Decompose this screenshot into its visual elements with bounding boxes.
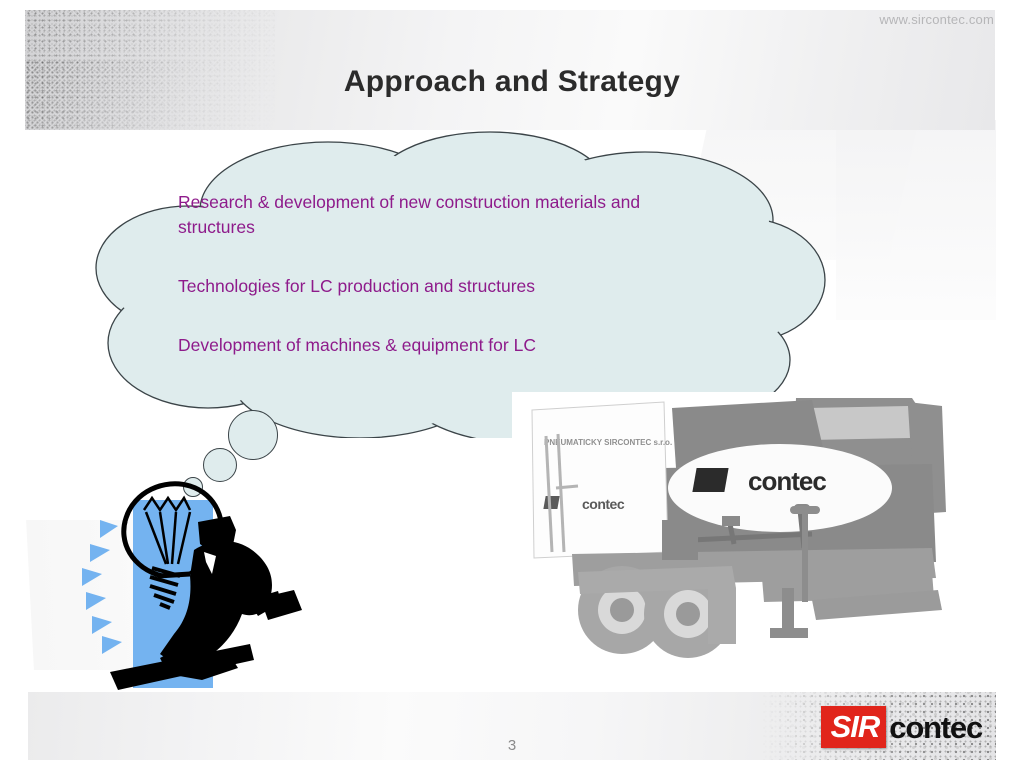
sircontec-logo: SIR contec: [821, 706, 982, 748]
slide: www.sircontec.com Approach and Strategy: [0, 0, 1024, 768]
site-url: www.sircontec.com: [879, 12, 994, 27]
light-rays: [82, 520, 122, 654]
background-watermark-shape: [836, 120, 996, 320]
cloud-bullet-list: Research & development of new constructi…: [178, 190, 718, 358]
page-title: Approach and Strategy: [0, 65, 1024, 99]
svg-text:contec: contec: [748, 466, 826, 496]
businessman-lightbulb-clipart: [40, 458, 330, 693]
cloud-bullet-3: Development of machines & equipment for …: [178, 333, 718, 358]
thought-bubble-large: [228, 410, 278, 460]
svg-text:contec: contec: [582, 496, 625, 512]
sircontec-machine-photo: contec PNEUMATICKY SIRCONTEC s.r.o. cont…: [512, 392, 952, 664]
cloud-bullet-1: Research & development of new constructi…: [178, 190, 718, 240]
logo-mark: SIR: [821, 706, 887, 748]
cloud-bullet-2: Technologies for LC production and struc…: [178, 274, 718, 299]
photo-trailer-company: PNEUMATICKY SIRCONTEC s.r.o.: [544, 438, 672, 447]
photo-tank-brand: contec: [692, 466, 826, 496]
logo-word: contec: [889, 712, 982, 743]
